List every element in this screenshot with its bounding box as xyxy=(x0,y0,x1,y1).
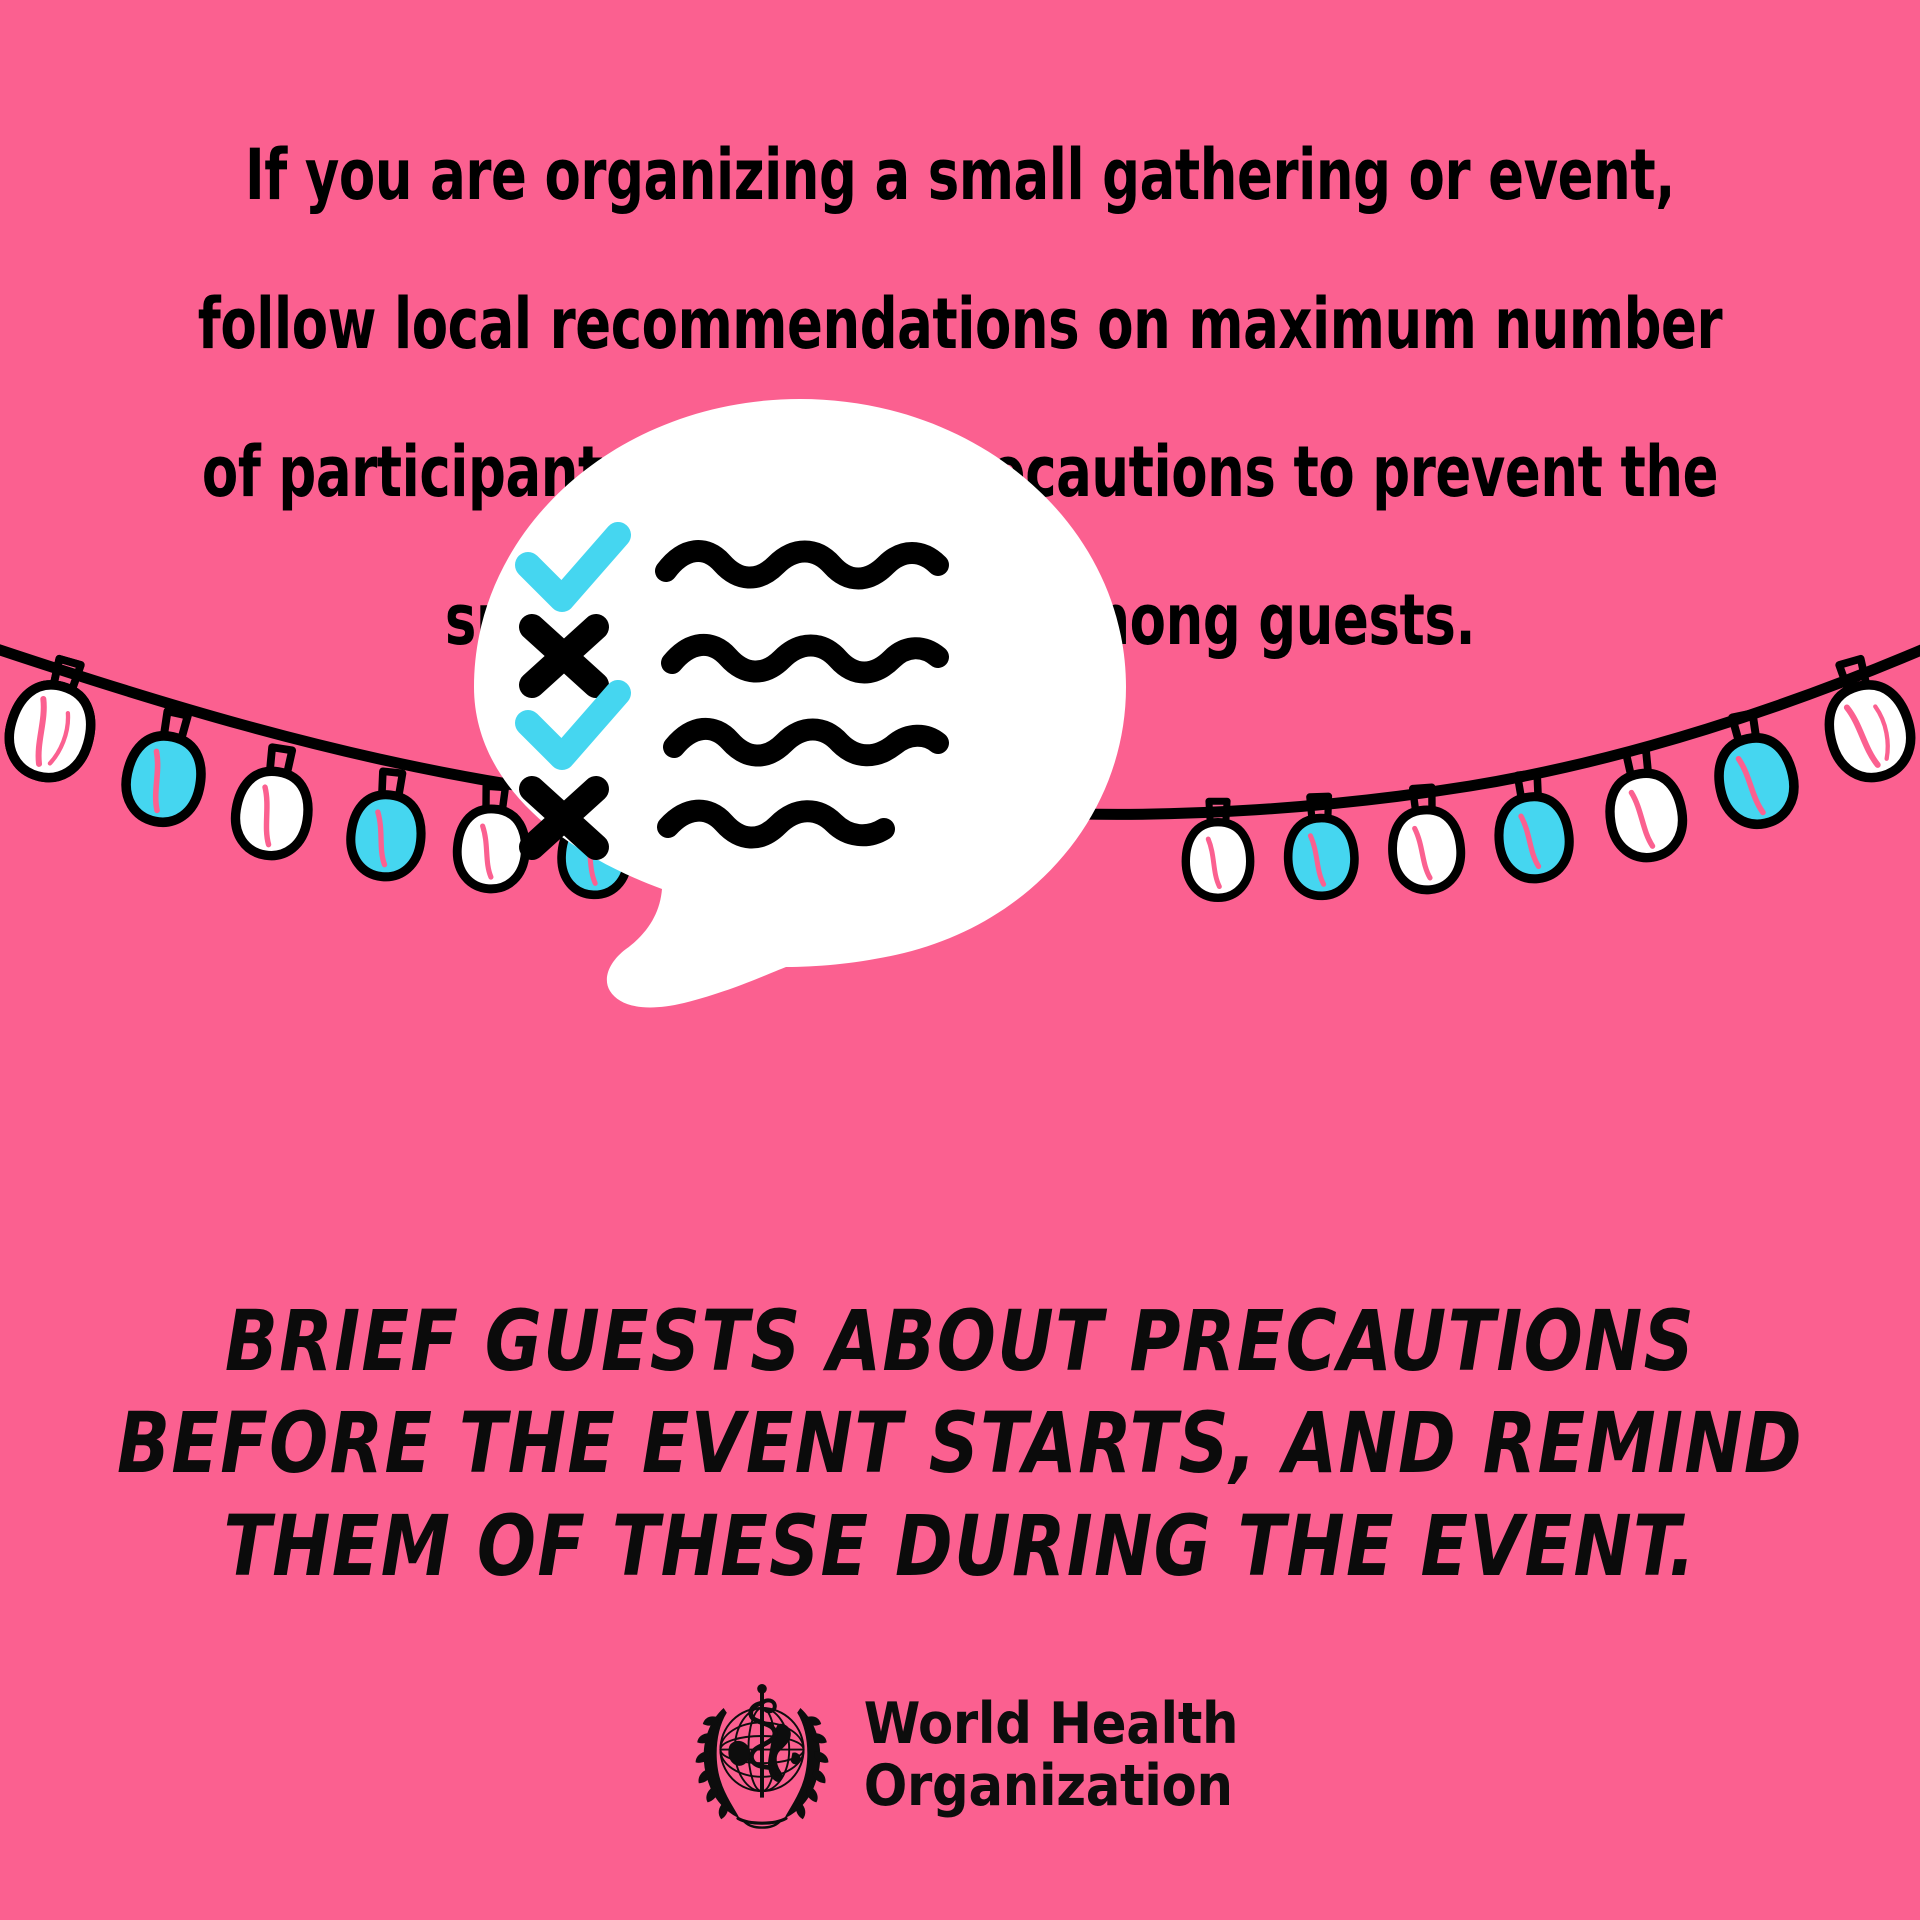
light-bulb xyxy=(1600,745,1688,863)
slogan: BRIEF GUESTS ABOUT PRECAUTIONS BEFORE TH… xyxy=(77,1290,1843,1597)
speech-bubble-shape xyxy=(470,395,1130,1035)
light-bulb xyxy=(1388,786,1463,893)
headline-line-1: If you are organizing a small gathering … xyxy=(154,138,1767,212)
who-logo: World Health Organization xyxy=(0,1676,1920,1836)
light-bulb xyxy=(1493,771,1573,883)
who-wordmark: World Health Organization xyxy=(864,1694,1239,1817)
who-line-1: World Health xyxy=(864,1694,1239,1756)
light-bulb xyxy=(0,651,108,787)
light-bulb xyxy=(1286,795,1356,897)
slogan-line-1: BRIEF GUESTS ABOUT PRECAUTIONS xyxy=(77,1290,1843,1392)
light-bulb xyxy=(1186,801,1250,898)
light-bulb xyxy=(230,743,318,861)
light-bulb xyxy=(1812,651,1920,787)
poster-canvas: If you are organizing a small gathering … xyxy=(0,0,1920,1920)
who-emblem-icon xyxy=(682,1676,842,1836)
light-bulb xyxy=(347,769,427,881)
headline-line-2: follow local recommendations on maximum … xyxy=(154,287,1767,361)
speech-bubble-illustration xyxy=(470,395,1130,1035)
slogan-line-3: THEM OF THESE DURING THE EVENT. xyxy=(77,1495,1843,1597)
who-line-2: Organization xyxy=(864,1756,1239,1818)
slogan-line-2: BEFORE THE EVENT STARTS, AND REMIND xyxy=(77,1392,1843,1494)
bubble-body xyxy=(474,399,1126,1007)
